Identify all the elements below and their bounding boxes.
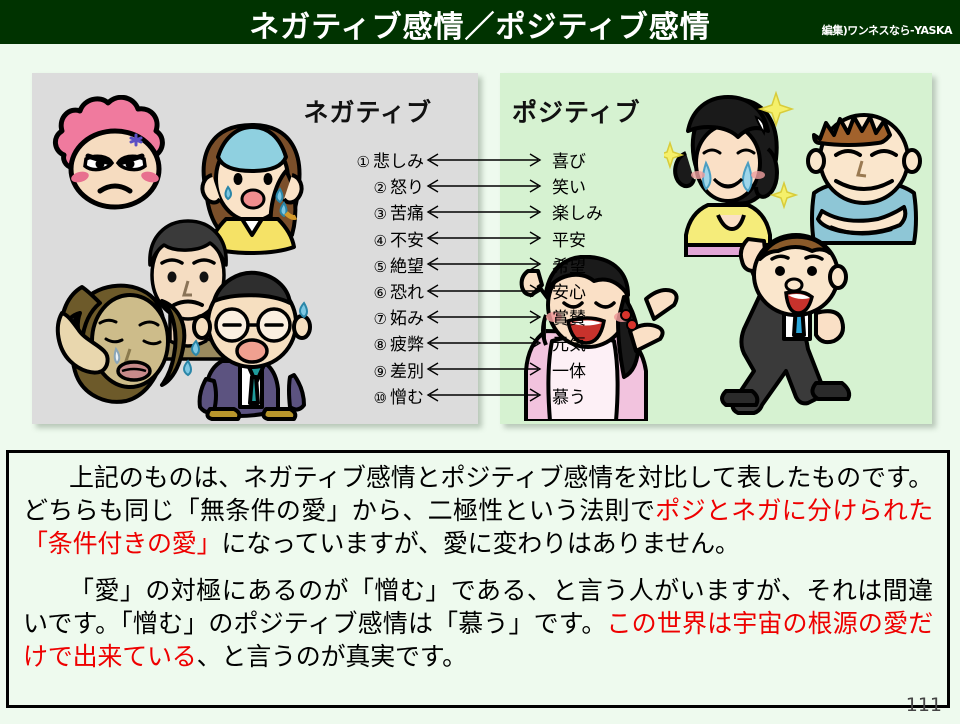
page-title: ネガティブ感情／ポジティブ感情 [0, 2, 960, 46]
emotion-pair-row: ⑦妬み賞賛 [0, 303, 960, 330]
positive-emotion-label: 楽しみ [552, 199, 712, 224]
emotion-index: ② [374, 179, 387, 197]
emotion-index: ③ [374, 205, 387, 223]
bidirectional-arrow-icon [424, 150, 544, 170]
bidirectional-arrow-icon [424, 254, 544, 274]
emotion-pair-row: ①悲しみ喜び [0, 146, 960, 173]
emotion-index: ⑧ [374, 336, 387, 354]
negative-emotion-label: ⑧疲弊 [300, 330, 424, 355]
negative-emotion-label: ②怒り [300, 173, 424, 198]
positive-emotion-label: 賞賛 [552, 304, 712, 329]
bidirectional-arrow-icon [424, 359, 544, 379]
body-text: になっていますが、愛に変わりはありません。 [221, 529, 739, 558]
positive-emotion-label: 平安 [552, 226, 712, 251]
emotion-pair-row: ⑤絶望希望 [0, 251, 960, 278]
author-credit: 編集)ワンネスなら-YASKA [822, 22, 952, 38]
explanation-paragraph-2: 「愛」の対極にあるのが「憎む」である、と言う人がいますが、それは間違いです。「憎… [23, 574, 933, 673]
positive-emotion-label: 慕う [552, 383, 712, 408]
negative-emotion-label: ⑦妬み [300, 304, 424, 329]
emotion-pair-row: ③苦痛楽しみ [0, 198, 960, 225]
bidirectional-arrow-icon [424, 202, 544, 222]
explanation-paragraph-1: 上記のものは、ネガティブ感情とポジティブ感情を対比して表したものです。どちらも同… [23, 461, 933, 560]
emotion-pair-row: ⑧疲弊元気 [0, 329, 960, 356]
positive-emotion-label: 喜び [552, 147, 712, 172]
emotion-index: ④ [374, 232, 387, 250]
bidirectional-arrow-icon [424, 281, 544, 301]
positive-emotion-label: 一体 [552, 357, 712, 382]
emotion-pair-row: ④不安平安 [0, 225, 960, 252]
negative-emotion-label: ⑨差別 [300, 357, 424, 382]
emotion-pair-row: ⑥恐れ安心 [0, 277, 960, 304]
emotion-pair-row: ⑨差別一体 [0, 356, 960, 383]
negative-panel-heading: ネガティブ [303, 93, 432, 129]
body-text: 、と言うのが真実です。 [197, 642, 467, 671]
positive-emotion-label: 笑い [552, 173, 712, 198]
negative-emotion-label: ①悲しみ [300, 147, 424, 172]
positive-panel-heading: ポジティブ [512, 93, 641, 129]
bidirectional-arrow-icon [424, 228, 544, 248]
positive-emotion-label: 安心 [552, 278, 712, 303]
bidirectional-arrow-icon [424, 307, 544, 327]
emotion-index: ⑤ [374, 258, 387, 276]
emotion-index: ⑩ [374, 389, 387, 407]
bidirectional-arrow-icon [424, 333, 544, 353]
negative-emotion-label: ⑤絶望 [300, 252, 424, 277]
positive-emotion-label: 希望 [552, 252, 712, 277]
emotion-index: ⑦ [374, 310, 387, 328]
slide-title-bar: ネガティブ感情／ポジティブ感情 編集)ワンネスなら-YASKA [0, 0, 960, 44]
negative-emotion-label: ③苦痛 [300, 199, 424, 224]
emotion-pair-row: ⑩憎む慕う [0, 382, 960, 409]
highlighted-text: この世界は宇宙の根源の [607, 609, 884, 638]
emotion-index: ⑨ [374, 363, 387, 381]
emotion-pair-row: ②怒り笑い [0, 172, 960, 199]
bidirectional-arrow-icon [424, 176, 544, 196]
negative-emotion-label: ⑩憎む [300, 383, 424, 408]
emotion-index: ① [357, 153, 370, 171]
emotion-index: ⑥ [374, 284, 387, 302]
negative-emotion-label: ⑥恐れ [300, 278, 424, 303]
positive-emotion-label: 元気 [552, 330, 712, 355]
negative-emotion-label: ④不安 [300, 226, 424, 251]
explanation-textbox: 上記のものは、ネガティブ感情とポジティブ感情を対比して表したものです。どちらも同… [6, 450, 950, 708]
bidirectional-arrow-icon [424, 385, 544, 405]
